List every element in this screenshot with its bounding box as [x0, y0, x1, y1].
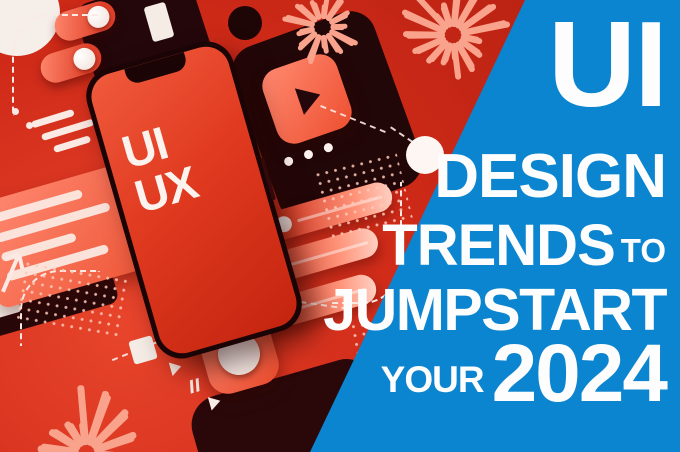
headline-your: YOUR [381, 361, 484, 407]
dark-circle-accent [228, 6, 262, 40]
headline-line-ui: UI [548, 12, 666, 117]
headline-trends-to: TO [621, 234, 666, 270]
headline-block: UI DESIGN TRENDS TO JUMPSTART YOUR 2024 [372, 0, 672, 452]
phone-label-ux: UX [130, 161, 201, 219]
headline-trends-main: TRENDS [382, 222, 614, 270]
accent-dot [26, 122, 33, 129]
accent-dot [12, 108, 19, 115]
ui-design-trends-poster: UI UX UI DESIGN TRENDS TO JUMPSTART YOUR… [0, 0, 680, 452]
play-next-icon[interactable] [169, 359, 183, 375]
headline-2024: 2024 [492, 340, 666, 407]
starburst-top-center [322, 26, 323, 27]
phone-screen-text: UI UX [118, 116, 202, 218]
headline-line-trends: TRENDS TO [382, 222, 666, 270]
headline-line-design: DESIGN [434, 152, 666, 203]
headline-line-year: YOUR 2024 [381, 340, 666, 407]
pause-icon[interactable] [189, 374, 217, 393]
play-icon [294, 81, 324, 115]
